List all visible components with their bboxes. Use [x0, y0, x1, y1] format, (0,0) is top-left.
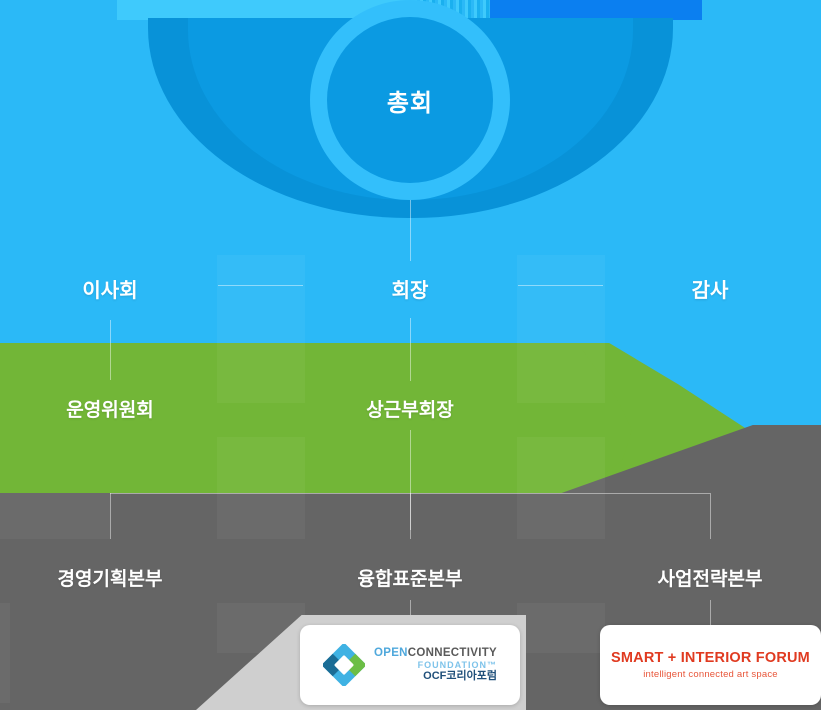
connector-to-division-3: [710, 493, 711, 539]
connector-to-division-1: [110, 493, 111, 539]
sif-subtitle: intelligent connected art space: [611, 669, 810, 680]
node-label: 이사회: [82, 280, 137, 302]
ocf-word-connectivity: CONNECTIVITY: [408, 647, 497, 659]
ocf-diamond-icon: [323, 644, 365, 686]
logo-card-ocf-korea-forum[interactable]: OPENCONNECTIVITY FOUNDATION™ OCF코리아포럼: [300, 625, 520, 705]
connector-board-to-chairman: [218, 285, 303, 286]
node-auditor[interactable]: 감사: [640, 274, 780, 303]
logo-card-smart-interior-forum[interactable]: SMART + INTERIOR FORUM intelligent conne…: [600, 625, 821, 705]
org-chart-canvas: 총회 이사회 회장 감사 운영위원회 상근부회장 경영기획본부 융합표준본부 사…: [0, 0, 821, 710]
assembly-node-label: 총회: [387, 83, 433, 118]
node-label: 감사: [692, 280, 729, 302]
node-steering-committee[interactable]: 운영위원회: [20, 395, 200, 422]
node-label: 융합표준본부: [358, 569, 463, 590]
connector-chairman-to-vice: [410, 318, 411, 381]
top-progress-bar-dark: [490, 0, 702, 20]
connector-chairman-to-auditor: [518, 285, 603, 286]
connector-to-division-2: [410, 493, 411, 539]
node-label: 상근부회장: [366, 400, 453, 421]
ocf-wordmark-foundation: FOUNDATION™: [374, 661, 497, 670]
node-label: 경영기획본부: [58, 569, 163, 590]
ocf-wordmark-korea-forum: OCF코리아포럼: [374, 671, 497, 682]
ocf-word-open: OPEN: [374, 647, 408, 659]
node-chairman[interactable]: 회장: [340, 274, 480, 303]
node-label: 사업전략본부: [658, 569, 763, 590]
node-board-of-directors[interactable]: 이사회: [40, 274, 180, 303]
connector-division-3-to-logo: [710, 600, 711, 628]
node-label: 운영위원회: [66, 400, 153, 421]
ocf-wordmark-line-1: OPENCONNECTIVITY: [374, 648, 497, 660]
node-executive-vice-chairman[interactable]: 상근부회장: [320, 395, 500, 422]
node-convergence-standards-division[interactable]: 융합표준본부: [310, 564, 510, 591]
node-business-strategy-division[interactable]: 사업전략본부: [610, 564, 810, 591]
node-management-planning-division[interactable]: 경영기획본부: [10, 564, 210, 591]
connector-board-to-steering: [110, 320, 111, 380]
assembly-node[interactable]: 총회: [327, 17, 493, 183]
sif-title: SMART + INTERIOR FORUM: [611, 650, 810, 667]
node-label: 회장: [392, 280, 429, 302]
